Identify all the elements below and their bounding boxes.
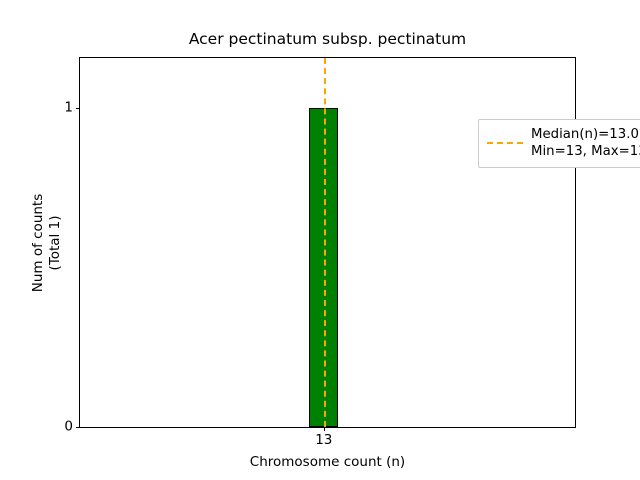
- chart-figure: Acer pectinatum subsp. pectinatum 0 1 13: [0, 0, 640, 480]
- y-axis-label-main: Num of counts: [30, 193, 46, 292]
- legend-minmax-text: Min=13, Max=13: [531, 143, 640, 160]
- xtick-label-13: 13: [315, 433, 332, 447]
- y-axis-label: Num of counts (Total 1): [30, 193, 64, 292]
- plot-inner: [80, 58, 575, 427]
- xtick-mark-13: [324, 427, 325, 431]
- y-axis-label-wrapper: Num of counts (Total 1): [27, 57, 67, 428]
- ytick-mark-1: [76, 108, 80, 109]
- chart-legend: Median(n)=13.0 Min=13, Max=13: [478, 119, 640, 168]
- chart-title: Acer pectinatum subsp. pectinatum: [79, 30, 576, 48]
- ytick-mark-0: [76, 427, 80, 428]
- plot-area: 0 1 13 Median(n)=13.0 Min=13, Max=13: [79, 57, 576, 428]
- legend-entry-label: Median(n)=13.0 Min=13, Max=13: [531, 126, 640, 160]
- median-line: [324, 58, 326, 427]
- legend-median-text: Median(n)=13.0: [531, 127, 639, 142]
- x-axis-label: Chromosome count (n): [79, 455, 576, 470]
- legend-entry-median: Median(n)=13.0 Min=13, Max=13: [487, 126, 640, 160]
- y-axis-label-total: (Total 1): [47, 193, 64, 292]
- dashed-line-icon: [487, 136, 523, 150]
